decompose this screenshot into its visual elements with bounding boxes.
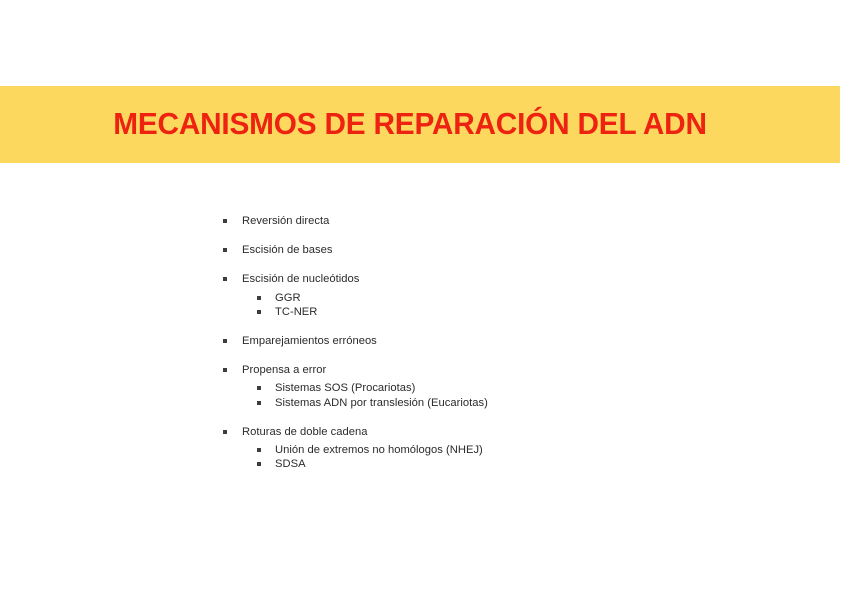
- outline-list: Reversión directa Escisión de bases Esci…: [0, 215, 848, 472]
- list-item-label: Roturas de doble cadena: [227, 426, 367, 438]
- list-item[interactable]: Emparejamientos erróneos: [0, 335, 848, 347]
- list-item-label: GGR: [261, 292, 301, 304]
- list-item[interactable]: Reversión directa: [0, 215, 848, 227]
- list-item[interactable]: Unión de extremos no homólogos (NHEJ): [0, 444, 848, 456]
- list-item-label: Unión de extremos no homólogos (NHEJ): [261, 444, 483, 456]
- list-item[interactable]: Roturas de doble cadena: [0, 426, 848, 438]
- list-item[interactable]: TC-NER: [0, 306, 848, 318]
- list-item-label: Sistemas ADN por translesión (Eucariotas…: [261, 397, 488, 409]
- list-item-label: TC-NER: [261, 306, 317, 318]
- list-item-label: SDSA: [261, 458, 306, 470]
- list-item-label: Sistemas SOS (Procariotas): [261, 382, 415, 394]
- list-item-label: Propensa a error: [227, 364, 326, 376]
- list-item-label: Reversión directa: [227, 215, 329, 227]
- list-item[interactable]: Escisión de bases: [0, 244, 848, 256]
- title-band: MECANISMOS DE REPARACIÓN DEL ADN: [0, 86, 840, 163]
- list-item[interactable]: Escisión de nucleótidos: [0, 273, 848, 285]
- list-item-label: Escisión de bases: [227, 244, 333, 256]
- list-item[interactable]: GGR: [0, 292, 848, 304]
- list-item-label: Emparejamientos erróneos: [227, 335, 377, 347]
- slide-canvas: MECANISMOS DE REPARACIÓN DEL ADN Reversi…: [0, 0, 848, 599]
- page-title: MECANISMOS DE REPARACIÓN DEL ADN: [0, 108, 707, 141]
- list-item[interactable]: Sistemas ADN por translesión (Eucariotas…: [0, 397, 848, 409]
- list-item[interactable]: Sistemas SOS (Procariotas): [0, 382, 848, 394]
- list-item-label: Escisión de nucleótidos: [227, 273, 359, 285]
- list-item[interactable]: Propensa a error: [0, 364, 848, 376]
- list-item[interactable]: SDSA: [0, 458, 848, 470]
